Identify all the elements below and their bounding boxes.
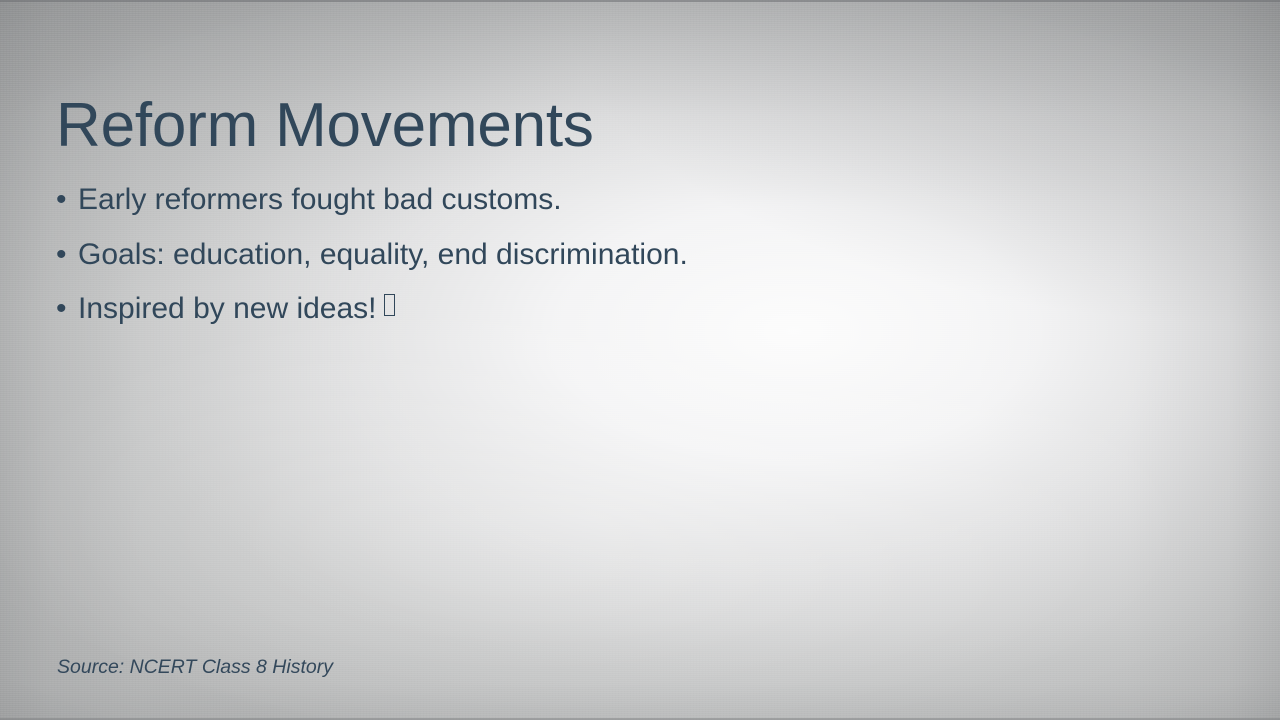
- bullet-text-2: Goals: education, equality, end discrimi…: [78, 240, 688, 270]
- missing-glyph-box-icon: [384, 294, 395, 316]
- source-note: Source: NCERT Class 8 History: [57, 656, 333, 679]
- bullet-text-3: Inspired by new ideas!: [78, 294, 377, 324]
- bullet-item-2: • Goals: education, equality, end discri…: [56, 240, 1196, 295]
- bullet-item-3: • Inspired by new ideas!: [56, 294, 1196, 349]
- slide-content: Reform Movements • Early reformers fough…: [0, 0, 1280, 720]
- bullet-item-1: • Early reformers fought bad customs.: [56, 185, 1196, 240]
- slide-title: Reform Movements: [56, 94, 1206, 158]
- bullet-list: • Early reformers fought bad customs. • …: [56, 185, 1196, 349]
- bullet-marker-icon: •: [56, 240, 78, 270]
- bullet-marker-icon: •: [56, 294, 78, 324]
- presentation-slide: Reform Movements • Early reformers fough…: [0, 0, 1280, 720]
- bullet-marker-icon: •: [56, 185, 78, 215]
- bullet-text-1: Early reformers fought bad customs.: [78, 185, 562, 215]
